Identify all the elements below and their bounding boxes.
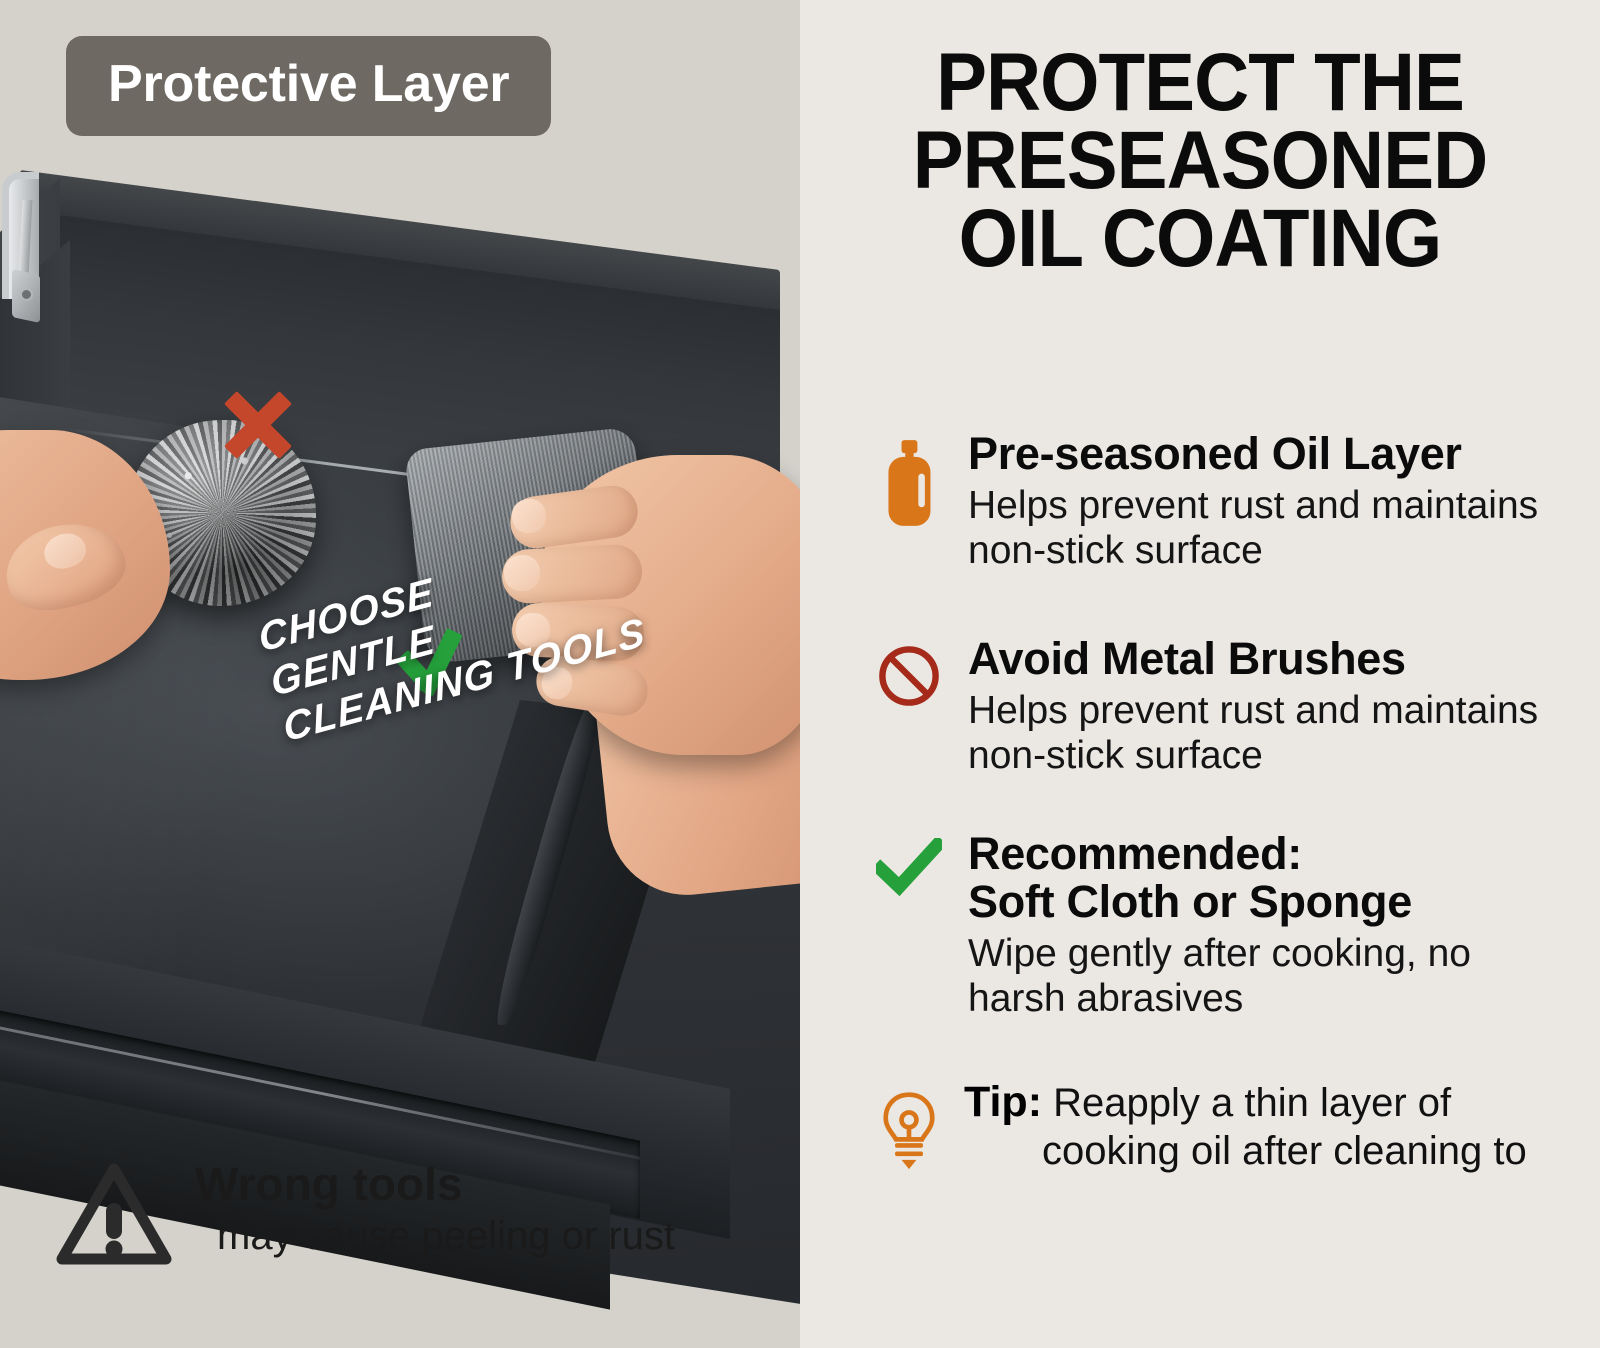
wrong-tools-warning: Wrong tools may cause peeling or rust: [55, 1152, 755, 1268]
warning-triangle-icon: [55, 1160, 173, 1268]
infographic-page: CHOOSE GENTLE CLEANING TOOLS Protective …: [0, 0, 1600, 1348]
check-mark-icon: [876, 830, 942, 896]
oil-bottle-icon: [876, 430, 942, 528]
x-mark-icon: [212, 378, 304, 470]
tip-block: Tip: Reapply a thin layer of cooking oil…: [876, 1077, 1576, 1174]
feature-title: Pre-seasoned Oil Layer: [968, 430, 1576, 478]
feature-description: Helps prevent rust and maintains non-sti…: [968, 689, 1576, 778]
tip-first-line: Tip: Reapply a thin layer of: [964, 1077, 1576, 1127]
headline-line-2: PRESEASONED: [856, 122, 1544, 200]
feature-item-oil-layer: Pre-seasoned Oil Layer Helps prevent rus…: [876, 430, 1576, 573]
lightbulb-icon: [876, 1077, 942, 1171]
page-title: PROTECT THE PRESEASONED OIL COATING: [856, 44, 1544, 278]
product-photo-panel: CHOOSE GENTLE CLEANING TOOLS Protective …: [0, 0, 800, 1348]
headline-line-3: OIL COATING: [856, 200, 1544, 278]
warning-subtitle: may cause peeling or rust: [217, 1214, 675, 1258]
tip-line-2: cooking oil after cleaning to: [1042, 1128, 1576, 1175]
feature-title: Recommended: Soft Cloth or Sponge: [968, 830, 1576, 926]
left-hand: [0, 430, 200, 710]
feature-item-avoid-metal-brushes: Avoid Metal Brushes Helps prevent rust a…: [876, 635, 1576, 778]
no-entry-icon: [876, 635, 942, 709]
warning-title: Wrong tools: [195, 1160, 675, 1208]
feature-list: Pre-seasoned Oil Layer Helps prevent rus…: [876, 430, 1576, 1174]
feature-title: Avoid Metal Brushes: [968, 635, 1576, 683]
feature-description: Helps prevent rust and maintains non-sti…: [968, 484, 1576, 573]
headline-line-1: PROTECT THE: [856, 44, 1544, 122]
tip-label: Tip:: [964, 1078, 1042, 1126]
feature-item-recommended-cloth: Recommended: Soft Cloth or Sponge Wipe g…: [876, 830, 1576, 1021]
feature-description: Wipe gently after cooking, no harsh abra…: [968, 932, 1576, 1021]
chrome-handle-icon: [0, 172, 46, 307]
protective-layer-badge: Protective Layer: [66, 36, 551, 136]
info-panel: PROTECT THE PRESEASONED OIL COATING Pre-…: [800, 0, 1600, 1348]
tip-line-1: Reapply a thin layer of: [1053, 1081, 1451, 1125]
